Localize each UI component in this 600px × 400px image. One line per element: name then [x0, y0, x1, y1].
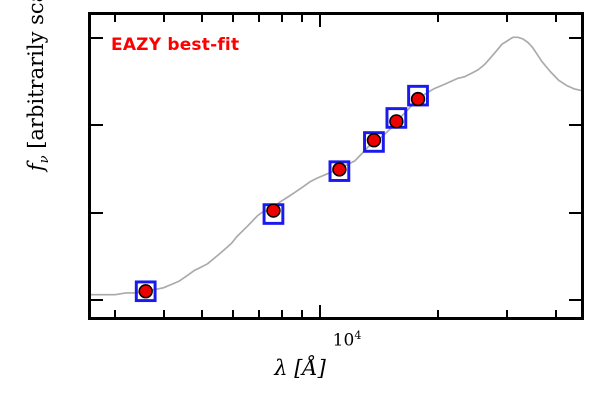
- x-axis-title-unit: [Å]: [294, 356, 326, 380]
- annotation-eazy-best-fit: EAZY best-fit: [111, 35, 239, 55]
- x-tick-minor-top: [258, 15, 260, 22]
- x-tick-minor-top: [232, 15, 234, 22]
- y-tick-major-left: [91, 37, 103, 39]
- y-tick-major-left: [91, 124, 103, 126]
- y-axis-title: fν [arbitrarily scaled]: [24, 0, 52, 230]
- y-axis-title-unit: [arbitrarily scaled]: [24, 0, 48, 149]
- x-tick-minor-bottom: [506, 310, 508, 317]
- x-tick-minor-bottom: [555, 310, 557, 317]
- x-tick-minor-top: [114, 15, 116, 22]
- x-tick-major-top: [319, 15, 321, 27]
- observed-photometry-circle: [390, 115, 403, 128]
- y-tick-major-left: [91, 212, 103, 214]
- y-tick-major-right: [569, 212, 581, 214]
- observed-photometry-circle: [333, 163, 346, 176]
- axes-frame: EAZY best-fit: [88, 12, 584, 320]
- x-tick-minor-bottom: [281, 310, 283, 317]
- observed-photometry-markers: [139, 93, 424, 298]
- observed-photometry-circle: [267, 204, 280, 217]
- x-tick-major-bottom: [319, 305, 321, 317]
- x-axis-title-lambda: λ: [274, 356, 287, 380]
- y-axis-title-nu: ν: [37, 155, 52, 163]
- x-tick-minor-top: [163, 15, 165, 22]
- y-tick-major-left: [91, 299, 103, 301]
- x-tick-minor-bottom: [301, 310, 303, 317]
- x-tick-minor-bottom: [163, 310, 165, 317]
- x-tick-minor-bottom: [114, 310, 116, 317]
- x-tick-minor-top: [506, 15, 508, 22]
- model-photometry-markers: [136, 86, 427, 300]
- x-axis-title: λ [Å]: [0, 356, 600, 380]
- x-tick-minor-bottom: [258, 310, 260, 317]
- y-tick-major-right: [569, 37, 581, 39]
- x-tick-minor-bottom: [232, 310, 234, 317]
- x-tick-minor-top: [301, 15, 303, 22]
- x-tick-minor-top: [201, 15, 203, 22]
- x-tick-minor-bottom: [437, 310, 439, 317]
- plot-canvas: [91, 15, 581, 317]
- x-tick-label-mantissa: 10: [333, 331, 355, 351]
- x-tick-label-1e4: 104: [307, 330, 387, 350]
- observed-photometry-circle: [368, 134, 381, 147]
- observed-photometry-circle: [139, 285, 152, 298]
- y-tick-major-right: [569, 124, 581, 126]
- y-axis-title-f: f: [24, 163, 48, 171]
- x-tick-minor-top: [555, 15, 557, 22]
- observed-photometry-circle: [412, 93, 425, 106]
- x-tick-minor-bottom: [201, 310, 203, 317]
- y-tick-major-right: [569, 299, 581, 301]
- x-tick-minor-top: [281, 15, 283, 22]
- x-tick-minor-top: [437, 15, 439, 22]
- sed-figure: fν [arbitrarily scaled] λ [Å] 150 100 50…: [0, 0, 600, 400]
- x-tick-label-exponent: 4: [354, 329, 361, 342]
